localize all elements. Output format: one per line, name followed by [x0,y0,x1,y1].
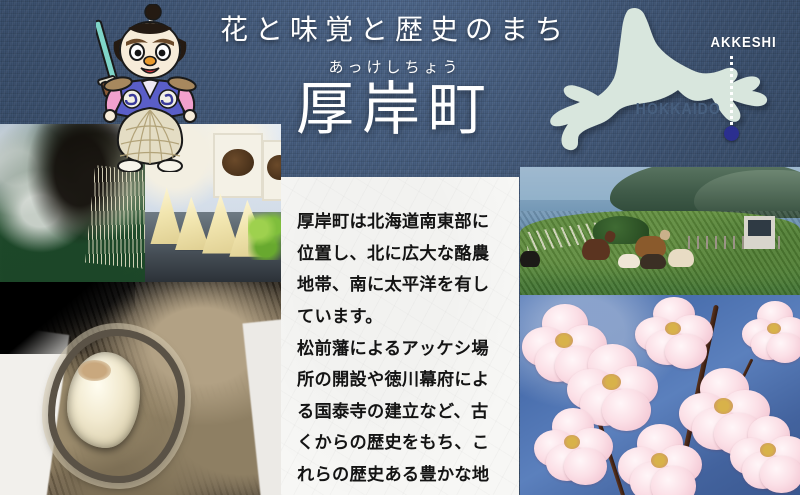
horse [582,239,610,261]
horse [520,251,540,266]
blossom-cluster [733,419,800,483]
description-panel: 厚岸町は北海道南東部に位置し、北に広大な酪農地帯、南に太平洋を有しています。 松… [281,177,519,495]
parsley-garnish [248,212,281,259]
description-paragraph-1: 厚岸町は北海道南東部に位置し、北に広大な酪農地帯、南に太平洋を有しています。 [297,207,505,334]
horse [618,254,640,268]
akkeshi-location-marker [724,126,739,141]
horse [640,254,665,269]
lion-mane-detail [85,165,145,269]
akkeshi-leader-line [730,56,733,128]
cheese-package-right [262,140,281,201]
blossom-cluster [621,427,699,495]
cheese-package-left [213,133,263,197]
map-region-label: HOKKAIDO [636,101,721,119]
blossom-cluster [537,411,610,475]
signboard-post [744,216,775,249]
hokkaido-landmass-shape [546,4,796,172]
cherry-blossoms-photo [520,295,800,495]
banner-root: HOKKAIDO AKKESHI [0,0,800,495]
blossom-cluster [638,299,711,359]
blossom-cluster [570,347,654,419]
oysters-in-tray-photo [0,282,281,495]
horses-coastal-pasture-photo [520,167,800,295]
description-paragraph-2: 松前藩によるアッケシ場所の開設や徳川幕府による国泰寺の建立など、古くからの歴史を… [297,334,505,495]
map-location-label: AKKESHI [711,34,777,51]
horse [668,249,693,267]
hokkaido-map: HOKKAIDO AKKESHI [546,4,796,172]
akkeshi-oyster-samurai-mascot [96,4,204,172]
description-text: 厚岸町は北海道南東部に位置し、北に広大な酪農地帯、南に太平洋を有しています。 松… [281,177,519,495]
blossom-cluster [744,303,800,355]
